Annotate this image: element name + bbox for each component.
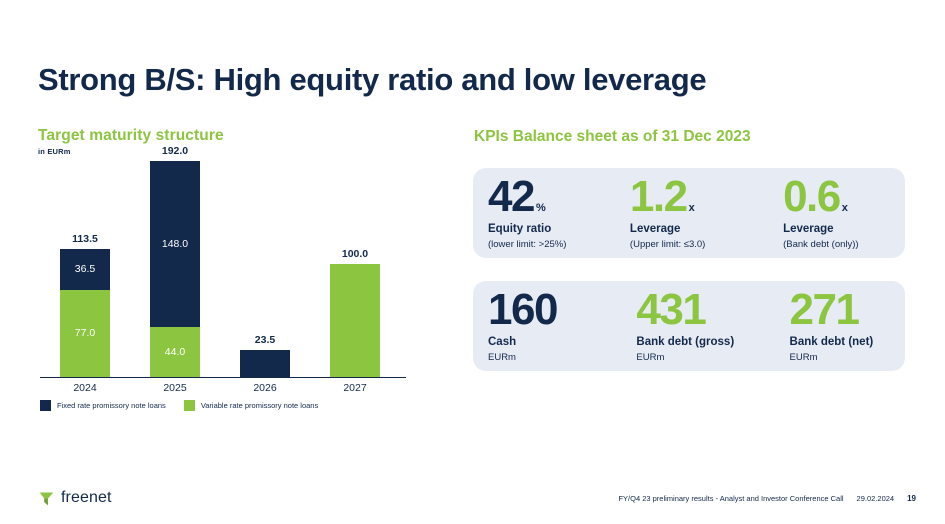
kpi-label: Equity ratio	[488, 223, 622, 236]
kpi-number: 0.6	[783, 177, 840, 217]
kpi-value: 431	[636, 290, 779, 330]
bar-segment-variable-rate: 77.0	[60, 290, 110, 377]
x-tick-label-2024: 2024	[55, 382, 115, 394]
kpi-cell-bank-debt-net: 271 Bank debt (net) EURm	[780, 281, 905, 371]
kpi-label: Bank debt (net)	[790, 336, 905, 349]
bar-group-2027: 100.0	[330, 264, 380, 377]
x-tick-label-2026: 2026	[235, 382, 295, 394]
kpi-heading: KPIs Balance sheet as of 31 Dec 2023	[474, 128, 751, 146]
bar-group-2025: 192.0148.044.0	[150, 161, 200, 377]
chart-legend: Fixed rate promissory note loans Variabl…	[40, 400, 318, 411]
kpi-label: Leverage	[783, 223, 905, 236]
legend-swatch-icon	[40, 400, 51, 411]
kpi-sublabel: EURm	[488, 352, 628, 363]
kpi-unit: %	[536, 203, 546, 213]
bar-segment-label: 44.0	[165, 347, 185, 358]
kpi-unit: x	[842, 203, 848, 213]
bar-group-2024: 113.536.577.0	[60, 249, 110, 377]
bar-segment-fixed-rate: 148.0	[150, 161, 200, 328]
kpi-value: 0.6 x	[783, 177, 905, 217]
kpi-sublabel: (Bank debt (only))	[783, 239, 905, 250]
kpi-unit: x	[689, 203, 695, 213]
brand-logo-text: freenet	[61, 489, 112, 507]
chart-unit-note: in EURm	[38, 147, 438, 156]
kpi-sublabel: (Upper limit: ≤3.0)	[630, 239, 773, 250]
kpi-label: Cash	[488, 336, 628, 349]
chart-x-axis	[40, 377, 406, 379]
kpi-sublabel: EURm	[790, 352, 905, 363]
page-title: Strong B/S: High equity ratio and low le…	[38, 62, 706, 98]
kpi-number: 271	[790, 290, 859, 330]
x-tick-label-2027: 2027	[325, 382, 385, 394]
maturity-structure-chart: 113.536.577.0192.0148.044.023.5100.0 202…	[38, 160, 408, 380]
bar-group-2026: 23.5	[240, 350, 290, 376]
left-panel-header: Target maturity structure in EURm	[38, 127, 438, 156]
bar-segment-label: 77.0	[75, 328, 95, 339]
kpi-cell-cash: 160 Cash EURm	[473, 281, 628, 371]
legend-item: Fixed rate promissory note loans	[40, 400, 166, 411]
kpi-value: 160	[488, 290, 628, 330]
kpi-label: Bank debt (gross)	[636, 336, 779, 349]
bar-segment-label: 148.0	[162, 239, 188, 250]
bar-segment-label: 36.5	[75, 264, 95, 275]
bar-total-label: 113.5	[55, 233, 115, 245]
kpi-card-amounts: 160 Cash EURm 431 Bank debt (gross) EURm…	[473, 281, 905, 371]
legend-item-label: Fixed rate promissory note loans	[57, 401, 166, 410]
footer-source: FY/Q4 23 preliminary results - Analyst a…	[618, 494, 843, 503]
kpi-number: 42	[488, 177, 534, 217]
footer-meta: FY/Q4 23 preliminary results - Analyst a…	[618, 494, 916, 503]
chart-heading: Target maturity structure	[38, 127, 438, 144]
bar-segment-fixed-rate	[240, 350, 290, 376]
kpi-number: 431	[636, 290, 705, 330]
kpi-card-ratios: 42 % Equity ratio (lower limit: >25%) 1.…	[473, 168, 905, 258]
bar-segment-fixed-rate: 36.5	[60, 249, 110, 290]
kpi-cell-equity-ratio: 42 % Equity ratio (lower limit: >25%)	[473, 168, 622, 258]
bar-segment-variable-rate: 44.0	[150, 327, 200, 377]
kpi-cell-leverage: 1.2 x Leverage (Upper limit: ≤3.0)	[622, 168, 773, 258]
x-tick-label-2025: 2025	[145, 382, 205, 394]
footer-date: 29.02.2024	[857, 494, 895, 503]
kpi-number: 160	[488, 290, 557, 330]
bar-total-label: 100.0	[325, 248, 385, 260]
kpi-value: 1.2 x	[630, 177, 773, 217]
freenet-triangle-icon	[38, 490, 55, 507]
kpi-sublabel: EURm	[636, 352, 779, 363]
legend-item: Variable rate promissory note loans	[184, 400, 318, 411]
chart-plot-area: 113.536.577.0192.0148.044.023.5100.0	[38, 160, 408, 378]
bar-total-label: 192.0	[145, 145, 205, 157]
legend-item-label: Variable rate promissory note loans	[201, 401, 318, 410]
legend-swatch-icon	[184, 400, 195, 411]
chart-x-tick-labels: 2024202520262027	[38, 382, 408, 398]
kpi-value: 42 %	[488, 177, 622, 217]
brand-logo: freenet	[38, 489, 112, 507]
kpi-sublabel: (lower limit: >25%)	[488, 239, 622, 250]
slide-canvas: Strong B/S: High equity ratio and low le…	[0, 0, 945, 524]
bar-total-label: 23.5	[235, 334, 295, 346]
kpi-label: Leverage	[630, 223, 773, 236]
kpi-value: 271	[790, 290, 905, 330]
kpi-cell-leverage-bank-debt: 0.6 x Leverage (Bank debt (only))	[773, 168, 905, 258]
kpi-cell-bank-debt-gross: 431 Bank debt (gross) EURm	[628, 281, 779, 371]
bar-segment-variable-rate	[330, 264, 380, 377]
kpi-number: 1.2	[630, 177, 687, 217]
page-number: 19	[907, 494, 916, 503]
